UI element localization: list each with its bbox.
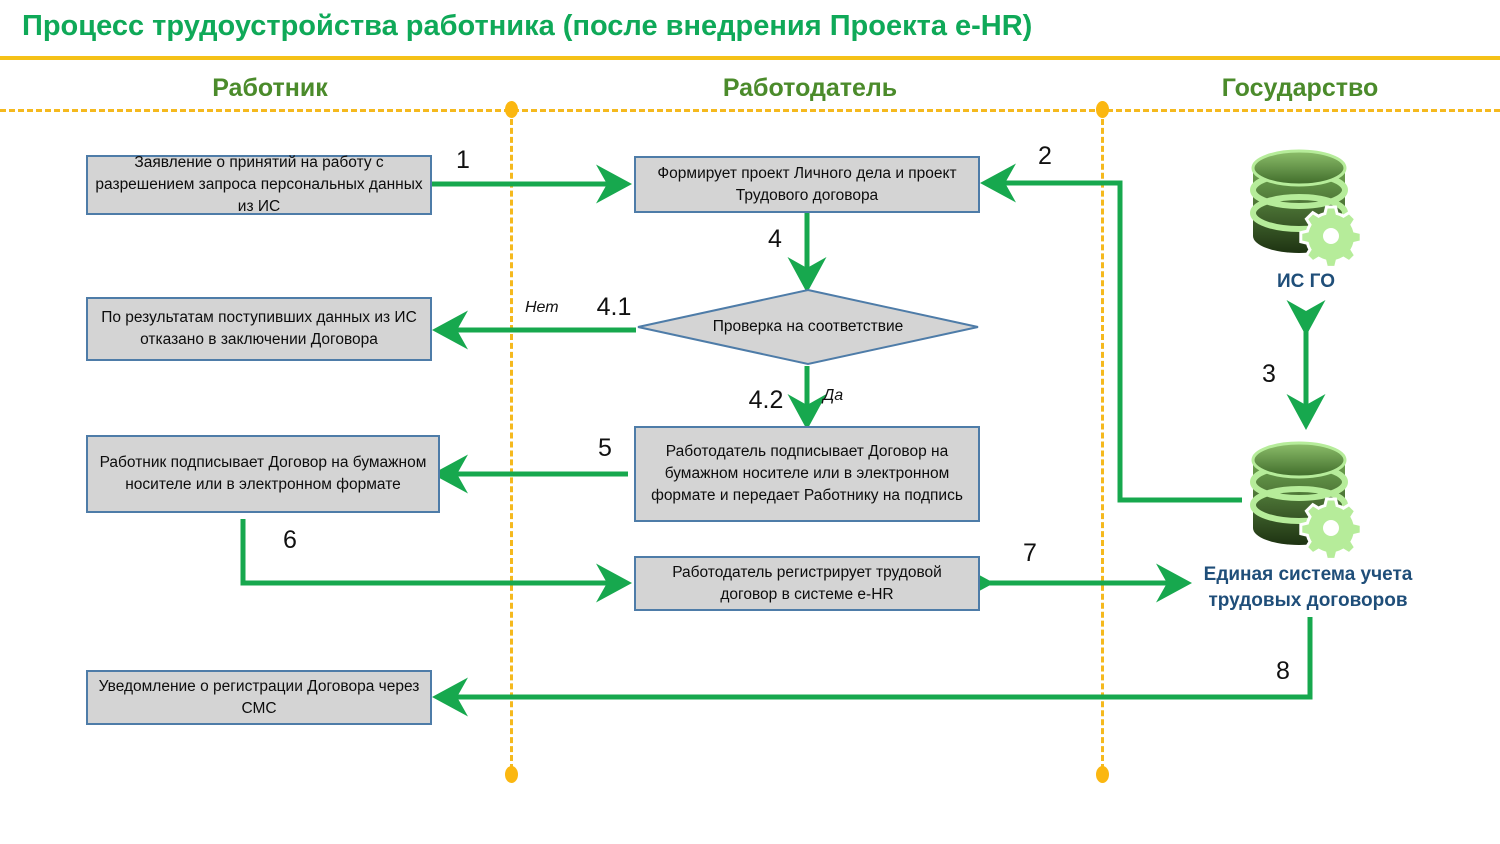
lane-node-dot-top-left [505,101,518,118]
database-label-unified-line-2: трудовых договоров [1190,588,1426,614]
box-draft-personal-file[interactable]: Формирует проект Личного дела и проект Т… [634,156,980,213]
lane-divider-vertical-1 [510,110,513,770]
page-title: Процесс трудоустройства работника (после… [22,10,1032,43]
box-employer-signs[interactable]: Работодатель подписывает Договор на бума… [634,426,980,522]
step-number-8: 8 [1263,657,1303,686]
title-divider-rule [0,56,1500,60]
database-label-unified-registry: Единая система учета трудовых договоров [1190,562,1426,613]
lane-header-state: Государство [1140,74,1460,103]
lane-divider-horizontal [0,109,1500,112]
step-number-3: 3 [1249,360,1289,389]
step-number-5: 5 [585,434,625,463]
branch-label-yes: Да [823,387,843,405]
decision-label-text: Проверка на соответствие [713,315,904,338]
step-number-4-2: 4.2 [738,386,794,415]
database-icon-unified-registry[interactable] [1245,440,1367,558]
box-sms-notification[interactable]: Уведомление о регистрации Договора через… [86,670,432,725]
decision-label: Проверка на соответствие [636,288,980,366]
box-register-contract[interactable]: Работодатель регистрирует трудовой догов… [634,556,980,611]
box-application[interactable]: Заявление о принятий на работу с разреше… [86,155,432,215]
decision-compliance-check[interactable]: Проверка на соответствие [636,288,980,366]
step-number-4: 4 [755,225,795,254]
step-number-7: 7 [1010,539,1050,568]
lane-header-employee: Работник [120,74,420,103]
step-number-6: 6 [270,526,310,555]
lane-node-dot-bottom-left [505,766,518,783]
lane-divider-vertical-2 [1101,110,1104,770]
box-rejection[interactable]: По результатам поступивших данных из ИС … [86,297,432,361]
step-number-2: 2 [1025,142,1065,171]
database-icon-is-go[interactable] [1245,148,1367,266]
lane-header-employer: Работодатель [630,74,990,103]
lane-node-dot-bottom-right [1096,766,1109,783]
database-label-unified-line-1: Единая система учета [1190,562,1426,588]
database-label-is-go: ИС ГО [1216,270,1396,294]
branch-label-no: Нет [525,299,559,317]
step-number-4-1: 4.1 [586,293,642,322]
lane-node-dot-top-right [1096,101,1109,118]
box-employee-signs[interactable]: Работник подписывает Договор на бумажном… [86,435,440,513]
step-number-1: 1 [443,146,483,175]
diagram-canvas: Процесс трудоустройства работника (после… [0,0,1500,844]
